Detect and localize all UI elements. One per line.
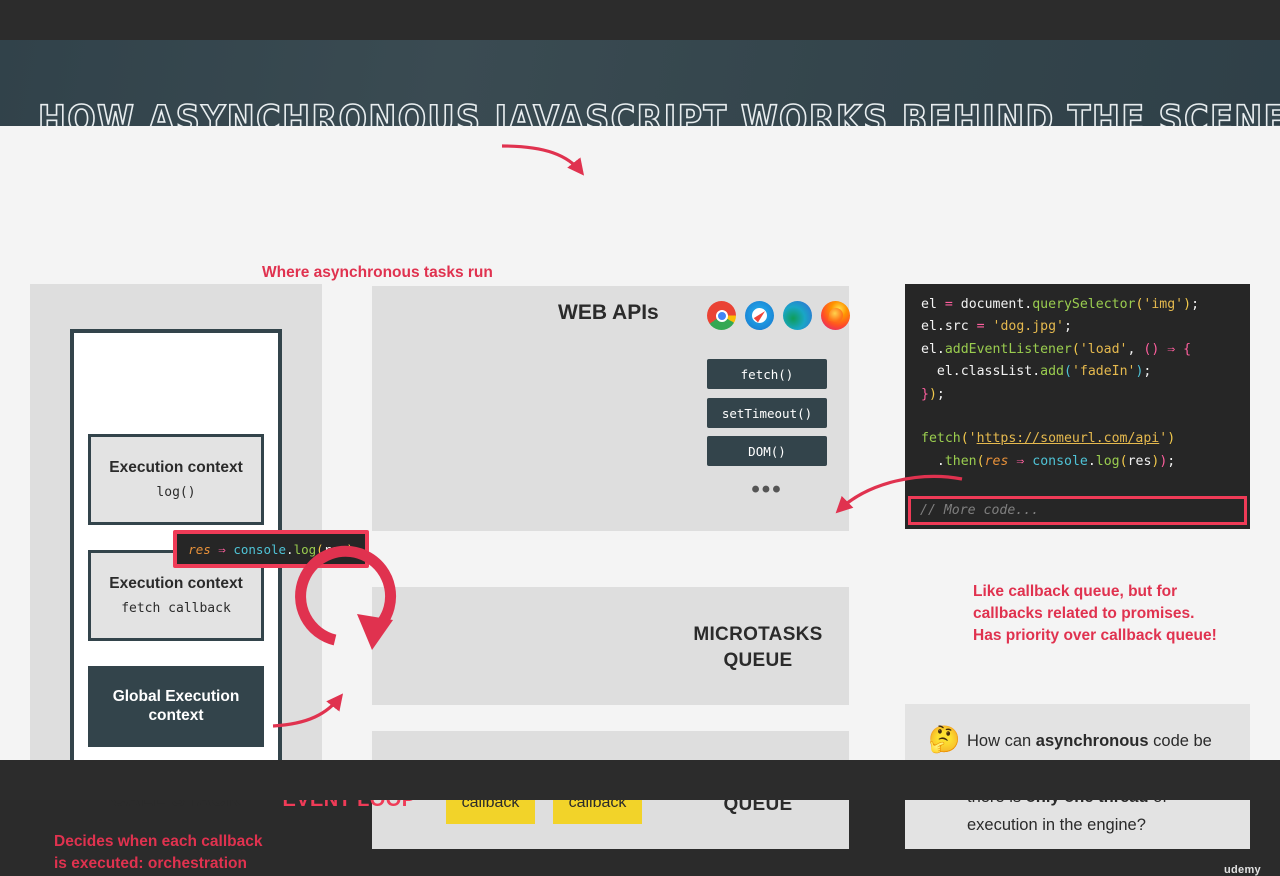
code-token-arrow: ⇒ — [218, 542, 226, 557]
code-token: src — [945, 319, 969, 334]
code-token: addEventListener — [945, 342, 1072, 357]
code-token: ; — [1167, 454, 1175, 469]
code-token-param: res — [188, 542, 211, 557]
top-letterbox-bar — [0, 0, 1280, 40]
code-token: ( — [1064, 364, 1072, 379]
code-token: = — [945, 297, 953, 312]
code-token: res — [985, 454, 1009, 469]
annotation-text: callbacks related to — [973, 605, 1121, 622]
code-token: ( — [961, 431, 969, 446]
execution-context-subtitle: fetch callback — [121, 601, 231, 616]
code-token: querySelector — [1032, 297, 1135, 312]
execution-context-title: Execution context — [109, 459, 243, 477]
annotation-web-apis: Where asynchronous tasks run — [262, 262, 493, 284]
annotation-line-2: callbacks related to promises. — [973, 603, 1253, 625]
execution-context-title: Execution context — [109, 575, 243, 593]
safari-icon — [745, 301, 774, 330]
code-token: . — [1088, 454, 1096, 469]
code-token: console — [1032, 454, 1088, 469]
code-line-3: el.addEventListener('load', () ⇒ { — [905, 339, 1250, 361]
code-token: . — [937, 319, 945, 334]
code-token: add — [1040, 364, 1064, 379]
annotation-text: Has — [973, 627, 1006, 644]
bottom-letterbox-bar — [0, 760, 1280, 800]
code-token-dot: . — [286, 542, 294, 557]
code-token-open-paren: ( — [316, 542, 324, 557]
annotation-microtasks-queue: Like callback queue, but for callbacks r… — [973, 581, 1253, 647]
firefox-icon — [821, 301, 850, 330]
code-token: el — [921, 342, 937, 357]
slide-root: How asynchronous JavaScript works behind… — [0, 0, 1280, 800]
more-code-highlight: // More code... — [908, 496, 1247, 525]
code-line-4: el.classList.add('fadeIn'); — [905, 361, 1250, 383]
annotation-line-2: is executed: orchestration — [54, 853, 354, 875]
code-token: . — [953, 364, 961, 379]
code-token: res — [1128, 454, 1152, 469]
code-token: } — [921, 387, 929, 402]
callback-highlight-code: res ⇒ console.log(res) — [177, 534, 365, 564]
code-token: 'fadeIn' — [1072, 364, 1136, 379]
web-api-settimeout[interactable]: setTimeout() — [707, 398, 827, 428]
annotation-emphasis: priority — [1006, 627, 1059, 644]
code-token — [937, 297, 945, 312]
annotation-text: . — [1190, 605, 1194, 622]
code-token: ; — [1143, 364, 1151, 379]
web-apis-label: WEB APIs — [558, 301, 659, 325]
code-token — [921, 454, 937, 469]
browser-icon-group — [707, 301, 850, 330]
code-token: . — [937, 342, 945, 357]
annotation-line-1: Like callback queue, but for — [973, 581, 1253, 603]
code-token: log — [1096, 454, 1120, 469]
code-snippet-card: el = document.querySelector('img');el.sr… — [905, 284, 1250, 529]
code-line-7: fetch('https://someurl.com/api') — [905, 428, 1250, 450]
code-token-method: log — [294, 542, 317, 557]
code-token: 'img' — [1143, 297, 1183, 312]
code-token: ) — [929, 387, 937, 402]
annotation-line-1: Decides when each callback — [54, 831, 354, 853]
global-execution-context-line1: Global Execution — [113, 688, 240, 706]
code-token: ( — [1120, 454, 1128, 469]
code-token: el — [921, 319, 937, 334]
annotation-text: is executed: — [54, 855, 148, 872]
microtasks-queue-line1: MICROTASKS — [663, 622, 853, 648]
code-token: ( — [1072, 342, 1080, 357]
code-token: 'dog.jpg' — [993, 319, 1064, 334]
global-execution-context-line2: context — [148, 707, 203, 725]
annotation-text: over callback queue! — [1059, 627, 1217, 644]
annotation-emphasis: promises — [1121, 605, 1190, 622]
microtasks-queue-label: MICROTASKS QUEUE — [663, 622, 853, 673]
code-token: classList — [961, 364, 1032, 379]
code-token: ' — [969, 431, 977, 446]
code-token: el — [937, 364, 953, 379]
callback-highlight-callout: res ⇒ console.log(res) — [173, 530, 369, 568]
execution-context-subtitle: log() — [156, 485, 195, 500]
code-token: ' — [1159, 431, 1167, 446]
code-token: . — [937, 454, 945, 469]
code-line-6 — [905, 406, 1250, 428]
code-token: ( — [977, 454, 985, 469]
code-token: () — [1143, 342, 1159, 357]
thinking-face-icon: 🤔 — [928, 726, 960, 752]
chrome-icon — [707, 301, 736, 330]
microtasks-queue-line2: QUEUE — [663, 648, 853, 674]
question-text-run: How can — [967, 732, 1036, 750]
code-token: ) — [1167, 431, 1175, 446]
code-line-1: el = document.querySelector('img'); — [905, 294, 1250, 316]
code-token: el — [921, 297, 937, 312]
code-token: ) — [1183, 297, 1191, 312]
web-api-dom[interactable]: DOM() — [707, 436, 827, 466]
code-token — [985, 319, 993, 334]
code-token — [953, 297, 961, 312]
code-token: https://someurl.com/api — [977, 431, 1160, 446]
code-token: ; — [937, 387, 945, 402]
annotation-event-loop: Decides when each callback is executed: … — [54, 831, 354, 875]
code-token: 'load' — [1080, 342, 1128, 357]
code-token: document — [961, 297, 1025, 312]
annotation-emphasis: orchestration — [148, 855, 247, 872]
execution-context-log: Execution context log() — [88, 434, 264, 525]
slide-canvas: Execution context log() Execution contex… — [0, 126, 1280, 760]
code-token: then — [945, 454, 977, 469]
annotation-line-3: Has priority over callback queue! — [973, 625, 1253, 647]
code-token: { — [1183, 342, 1191, 357]
code-token-object: console — [233, 542, 286, 557]
web-api-more-dots: ••• — [707, 478, 827, 502]
code-token-arg: res — [324, 542, 347, 557]
title-band: How asynchronous JavaScript works behind… — [0, 40, 1280, 126]
code-token: ; — [1064, 319, 1072, 334]
code-token: = — [977, 319, 985, 334]
more-code-row: // More code... — [911, 499, 1244, 522]
more-code-comment: // More code... — [920, 503, 1039, 518]
question-emphasis: asynchronous — [1036, 732, 1149, 750]
code-token — [969, 319, 977, 334]
code-token: fetch — [921, 431, 961, 446]
code-token: ⇒ — [1167, 342, 1175, 357]
code-token — [921, 364, 937, 379]
global-execution-context: Global Execution context — [88, 666, 264, 747]
edge-icon — [783, 301, 812, 330]
udemy-watermark: udemy — [1224, 864, 1261, 876]
code-line-8: .then(res ⇒ console.log(res)); — [905, 451, 1250, 473]
code-token: ; — [1191, 297, 1199, 312]
code-line-5: }); — [905, 384, 1250, 406]
code-token: . — [1032, 364, 1040, 379]
web-api-fetch[interactable]: fetch() — [707, 359, 827, 389]
code-line-2: el.src = 'dog.jpg'; — [905, 316, 1250, 338]
code-token-close-paren: ) — [346, 542, 354, 557]
code-token — [1175, 342, 1183, 357]
